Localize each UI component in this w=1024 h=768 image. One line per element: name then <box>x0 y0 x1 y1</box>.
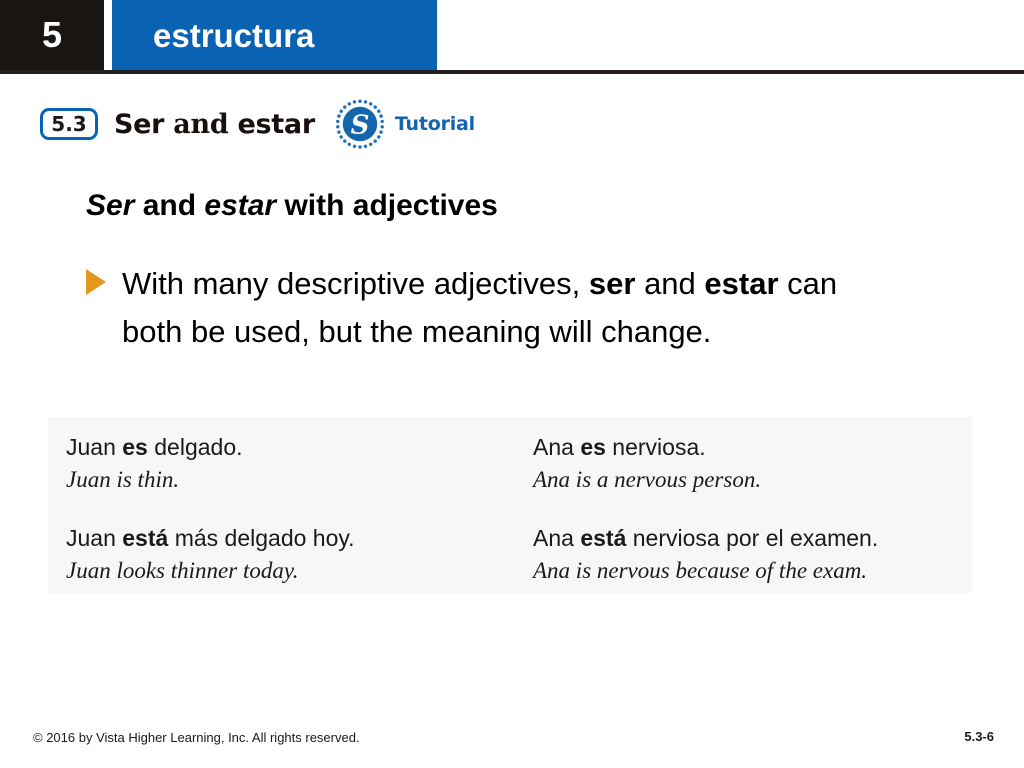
section-title: estructura <box>112 19 314 52</box>
chapter-number-block: 5 <box>0 0 104 70</box>
section-title-block: estructura <box>112 0 437 70</box>
bullet-item: With many descriptive adjectives, ser an… <box>86 260 896 356</box>
lesson-number-text: 5.3 <box>51 114 86 134</box>
example-pair: Ana está nerviosa por el examen. Ana is … <box>533 522 963 587</box>
example-spanish-post: más delgado hoy. <box>168 525 354 551</box>
lesson-title-estar: estar <box>238 109 315 140</box>
chapter-number: 5 <box>42 17 62 53</box>
example-pair: Ana es nerviosa. Ana is a nervous person… <box>533 431 963 496</box>
example-spanish-pre: Juan <box>66 434 122 460</box>
svg-text:S: S <box>350 111 369 141</box>
tutorial-link[interactable]: S Tutorial <box>334 98 475 150</box>
example-english: Juan is thin. <box>66 464 526 496</box>
tutorial-s-icon[interactable]: S <box>334 98 386 150</box>
example-spanish: Ana es nerviosa. <box>533 431 963 464</box>
example-spanish: Ana está nerviosa por el examen. <box>533 522 963 555</box>
example-spanish: Juan es delgado. <box>66 431 526 464</box>
example-spanish-pre: Ana <box>533 434 580 460</box>
example-spanish-pre: Ana <box>533 525 580 551</box>
example-spanish-verb: está <box>122 525 168 551</box>
example-spanish-verb: está <box>580 525 626 551</box>
triangle-bullet-icon <box>86 269 106 295</box>
example-spanish: Juan está más delgado hoy. <box>66 522 526 555</box>
lesson-title-ser: Ser <box>114 109 164 140</box>
copyright-notice: © 2016 by Vista Higher Learning, Inc. Al… <box>33 730 360 745</box>
bullet-text-part2: and <box>635 266 704 301</box>
example-spanish-pre: Juan <box>66 525 122 551</box>
page-title-tail: with adjectives <box>276 189 498 222</box>
bullet-bold-ser: ser <box>589 266 636 301</box>
example-spanish-verb: es <box>122 434 148 460</box>
example-spanish-post: delgado. <box>148 434 243 460</box>
example-spanish-verb: es <box>580 434 606 460</box>
lesson-number-badge: 5.3 <box>40 108 98 140</box>
page-number: 5.3-6 <box>964 729 994 744</box>
tutorial-label[interactable]: Tutorial <box>395 113 475 135</box>
example-english: Ana is a nervous person. <box>533 464 963 496</box>
page-title: Ser and estar with adjectives <box>86 189 498 223</box>
lesson-title: Ser and estar <box>114 109 315 140</box>
page-title-estar: estar <box>204 189 276 222</box>
example-spanish-post: nerviosa por el examen. <box>626 525 878 551</box>
lesson-title-and: and <box>173 109 228 140</box>
example-english: Ana is nervous because of the exam. <box>533 555 963 587</box>
header-divider-rule <box>0 70 1024 74</box>
bullet-text-part1: With many descriptive adjectives, <box>122 266 589 301</box>
example-pair: Juan está más delgado hoy. Juan looks th… <box>66 522 526 587</box>
page-title-and: and <box>134 189 204 222</box>
bullet-bold-estar: estar <box>704 266 778 301</box>
examples-column-right: Ana es nerviosa. Ana is a nervous person… <box>533 431 963 587</box>
bullet-text: With many descriptive adjectives, ser an… <box>122 260 882 356</box>
example-english: Juan looks thinner today. <box>66 555 526 587</box>
lesson-subheader: 5.3 Ser and estar <box>40 99 475 149</box>
examples-panel: Juan es delgado. Juan is thin. Juan está… <box>48 417 972 593</box>
page-title-ser: Ser <box>86 189 134 222</box>
slide-header: 5 estructura <box>0 0 1024 70</box>
example-spanish-post: nerviosa. <box>606 434 706 460</box>
example-pair: Juan es delgado. Juan is thin. <box>66 431 526 496</box>
examples-column-left: Juan es delgado. Juan is thin. Juan está… <box>66 431 526 587</box>
